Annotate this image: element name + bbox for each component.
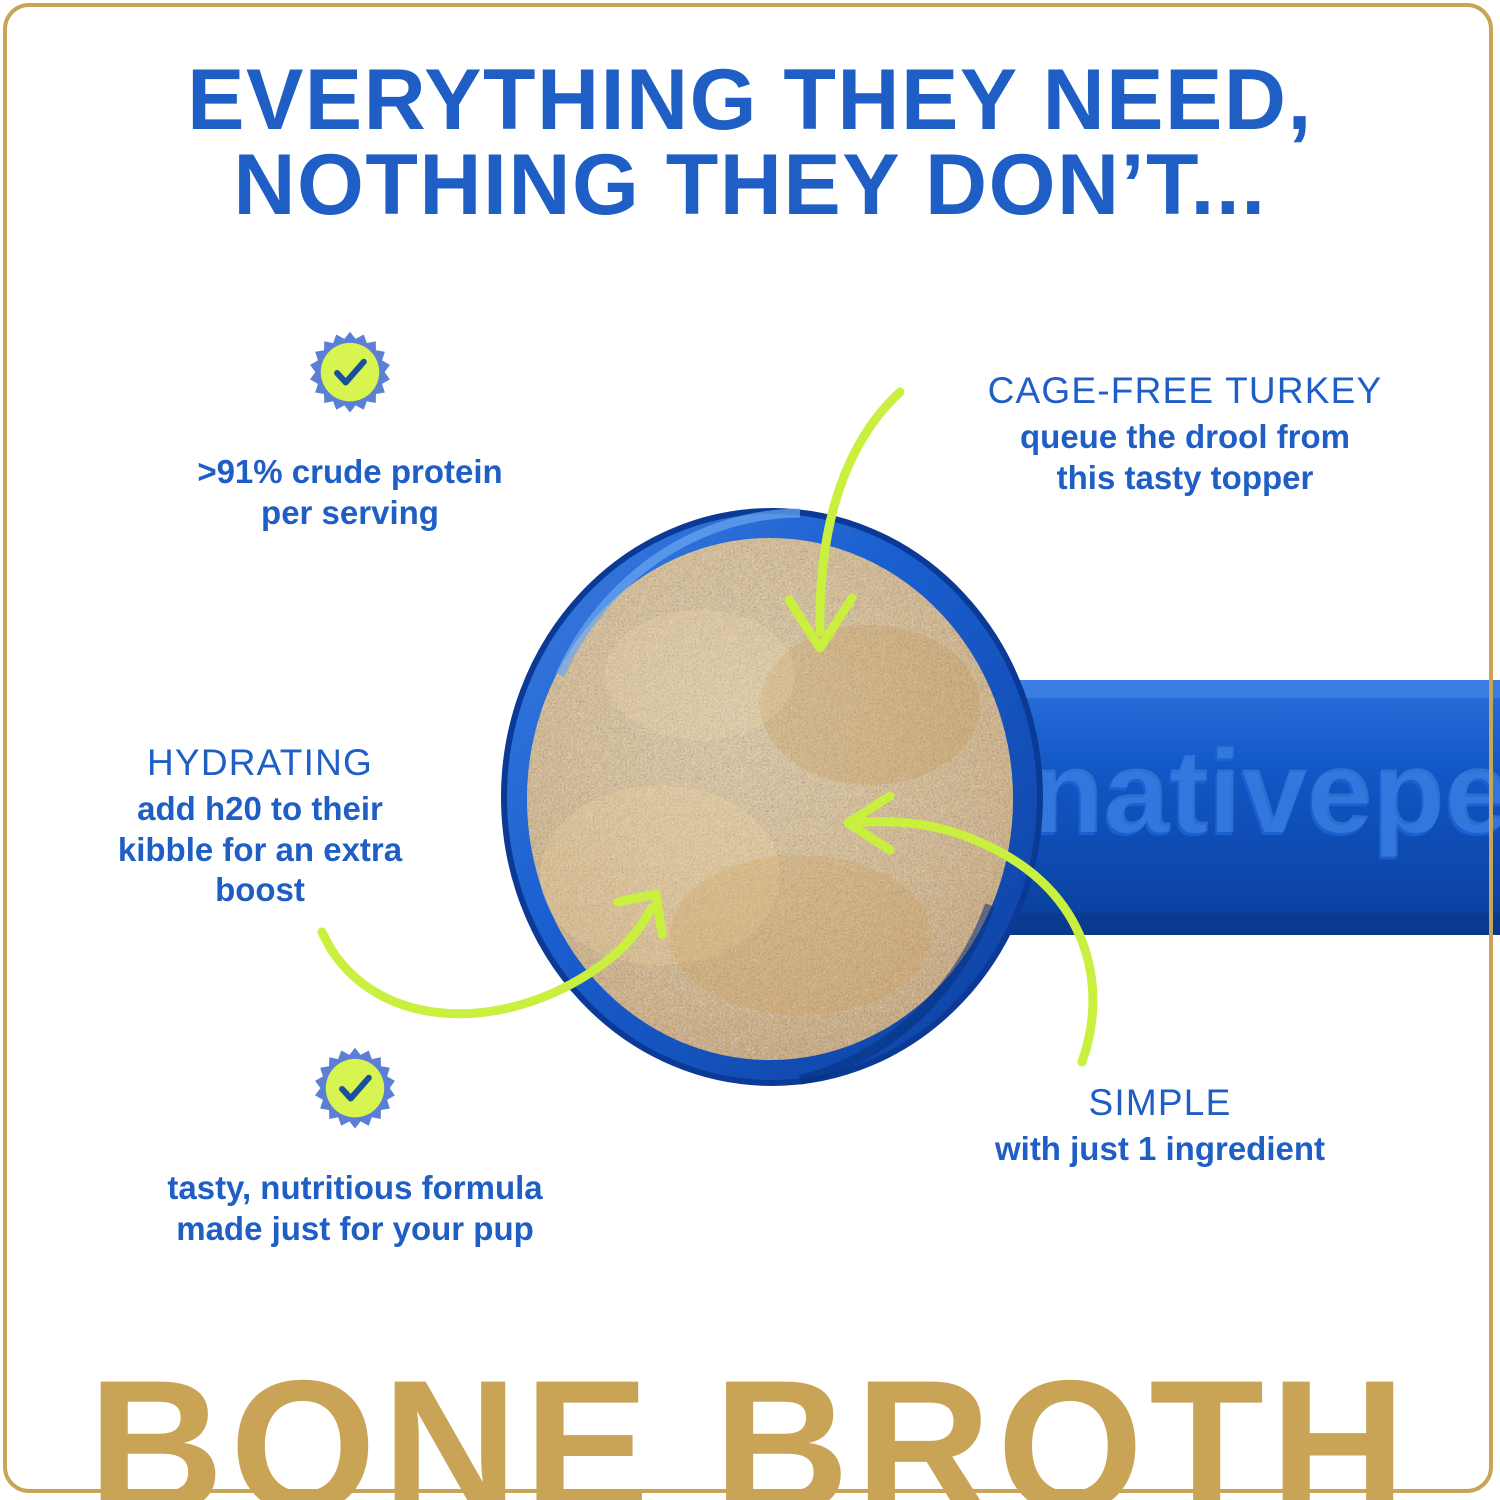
callout-turkey-line-2: this tasty topper [905,458,1465,498]
check-badge-icon [312,1046,398,1132]
callout-turkey-line-1: queue the drool from [905,417,1465,457]
callout-simple-body: with just 1 ingredient [940,1129,1380,1169]
callout-hydrating-line-1: add h20 to their [60,789,460,829]
check-badge-icon [307,330,393,416]
callout-hydrating-line-3: boost [60,870,460,910]
callout-turkey-body: queue the drool from this tasty topper [905,417,1465,498]
callout-simple-line-1: with just 1 ingredient [940,1129,1380,1169]
callout-tasty-line-2: made just for your pup [105,1209,605,1250]
page-title: EVERYTHING THEY NEED, NOTHING THEY DON’T… [0,58,1500,228]
headline-line-1: EVERYTHING THEY NEED, [0,58,1500,143]
product-photo-scoop: nativepe nativepe [470,505,1500,1105]
callout-turkey: CAGE-FREE TURKEY queue the drool from th… [905,370,1465,498]
callout-protein-line-2: per serving [130,493,570,534]
svg-text:nativepe: nativepe [1032,726,1500,858]
scoop-illustration: nativepe nativepe [470,505,1500,1105]
callout-protein-line-1: >91% crude protein [130,452,570,493]
badge-wrap-tasty [105,1046,605,1132]
callout-hydrating-heading: HYDRATING [60,742,460,783]
scoop-bowl [504,511,1040,1083]
callout-simple-heading: SIMPLE [940,1082,1380,1123]
callout-tasty-body: tasty, nutritious formula made just for … [105,1168,605,1250]
callout-turkey-heading: CAGE-FREE TURKEY [905,370,1465,411]
callout-hydrating: HYDRATING add h20 to their kibble for an… [60,742,460,910]
callout-hydrating-body: add h20 to their kibble for an extra boo… [60,789,460,910]
infographic-canvas: nativepe nativepe [0,0,1500,1500]
callout-protein: >91% crude protein per serving [130,330,570,534]
badge-wrap-protein [130,330,570,416]
callout-hydrating-line-2: kibble for an extra [60,830,460,870]
callout-tasty-line-1: tasty, nutritious formula [105,1168,605,1209]
product-wordmark: BONE BROTH [0,1352,1500,1500]
headline-line-2: NOTHING THEY DON’T... [0,143,1500,228]
callout-simple: SIMPLE with just 1 ingredient [940,1082,1380,1170]
callout-protein-body: >91% crude protein per serving [130,452,570,534]
callout-tasty: tasty, nutritious formula made just for … [105,1046,605,1250]
